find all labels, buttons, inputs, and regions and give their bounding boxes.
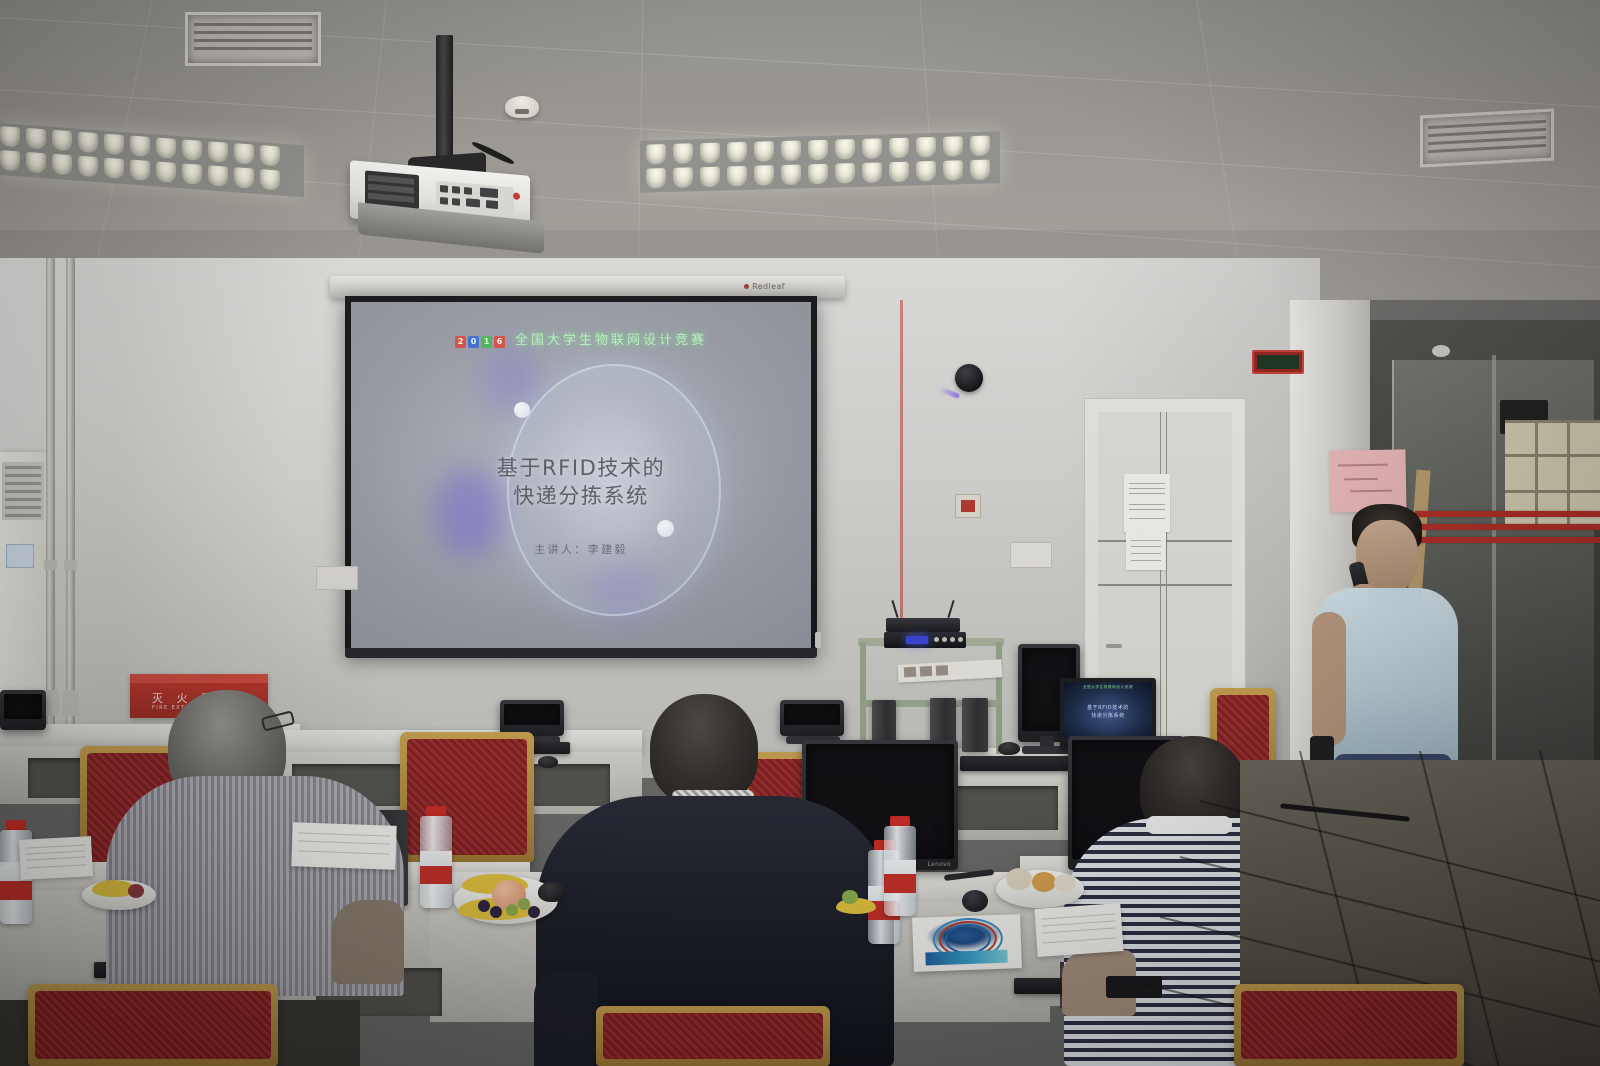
ac-sticker [6,544,34,568]
score-sheet-right [1034,903,1123,957]
chair-foreground-left[interactable] [28,984,278,1066]
wireless-router [886,618,960,632]
grape-black-2 [490,906,502,918]
door-notice-1 [1124,474,1170,532]
slide-presenter-label: 主讲人：李建毅 [351,541,811,557]
wall-pipe-1 [46,258,55,728]
keyboard-teacher-station[interactable] [960,756,1070,771]
pipe-joint-4 [62,690,79,716]
grape-green-1 [506,904,518,916]
ceiling-air-vent-right [1420,108,1554,167]
program-booklet[interactable] [912,914,1022,972]
laptop-screen: 全国大学生物联网设计竞赛 基于RFID技术的 快递分拣系统 [1064,682,1152,740]
door-notice-2 [1126,532,1166,570]
laptop-slide-title: 基于RFID技术的 快递分拣系统 [1064,705,1152,720]
score-sheet-left-1 [19,836,93,880]
presentation-slide: 2016 全国大学生物联网设计竞赛 基于RFID技术的 快递分拣系统 主讲人：李… [351,302,811,648]
pipe-joint-2 [64,560,77,570]
smoke-detector-icon-2 [1432,345,1450,357]
projector-mount-pole [436,35,453,165]
monitor-back-2 [780,700,844,736]
screen-brand-label: Redleaf [752,282,785,291]
judge-left-arm [332,900,404,984]
slide-header: 2016 全国大学生物联网设计竞赛 [351,328,811,348]
booklet-title-bar [925,950,1007,966]
amplifier-display [906,636,928,644]
screen-brand-dot [744,284,749,289]
grape-black-3 [528,906,540,918]
score-sheet-left-2 [291,822,396,870]
smoke-detector-icon [505,96,539,118]
presenter-collar [1368,588,1422,610]
water-bottle-2[interactable] [420,806,452,908]
fruit-left-1 [128,884,144,898]
wall-socket-icon [1010,542,1052,568]
monitor-brand-label-1: Lenovo [928,861,951,868]
laptop-title-line-1: 基于RFID技术的 [1064,705,1152,713]
audio-amplifier[interactable] [884,632,966,648]
year-digit-3: 1 [481,336,492,348]
ceiling-air-vent [185,12,321,66]
wall-pipe-2 [66,258,75,728]
door-handle[interactable] [1106,644,1122,648]
projection-screen-housing: Redleaf [330,276,845,298]
slide-orb-2 [657,520,674,537]
monitor-back-1 [500,700,564,736]
screen-bottom-bar [345,648,817,658]
year-digit-4: 6 [494,336,505,348]
laptop-slide-header: 全国大学生物联网设计竞赛 [1070,685,1146,690]
exit-sign-icon [1252,350,1304,374]
wall-cable-red [900,300,903,630]
pc-tower-3 [962,698,988,752]
chair-foreground-center[interactable] [596,1006,830,1066]
snack-right-1 [1006,868,1032,890]
mouse-teacher-station[interactable] [998,742,1020,755]
table-microphone-icon[interactable] [962,890,988,912]
slide-title: 基于RFID技术的 快递分拣系统 [351,454,811,510]
mouse-back-1[interactable] [538,756,558,768]
air-conditioner-unit [0,452,48,720]
glass-safety-stripe-1 [1415,511,1600,517]
judge-right-collar [1146,816,1232,834]
fire-alarm-call-point-icon [955,494,981,518]
photo-scene: Redleaf 2016 全国大学生物联网设计竞赛 基于RFID技术的 快递分拣… [0,0,1600,1066]
monitor-back-0 [0,690,46,730]
glass-safety-stripe-3 [1415,537,1600,543]
screen-pull-handle[interactable] [815,632,821,648]
presenter-arm-right [1312,612,1346,746]
snack-right-3 [1054,874,1076,892]
judge-center-arm-left [534,970,598,1066]
pipe-joint-1 [44,560,57,570]
slide-title-line-1: 基于RFID技术的 [351,454,811,482]
mouse-judge-center[interactable] [538,882,566,902]
snack-right-2 [1032,872,1056,892]
laptop-title-line-2: 快递分拣系统 [1064,713,1152,721]
projection-screen: 2016 全国大学生物联网设计竞赛 基于RFID技术的 快递分拣系统 主讲人：李… [345,296,817,654]
grape-green-3 [842,890,858,904]
pink-wall-poster [1329,449,1406,512]
wall-panel-left [316,566,358,590]
dome-camera-icon [955,364,983,392]
water-bottle-4[interactable] [884,816,916,916]
year-digit-1: 2 [455,336,466,348]
slide-title-line-2: 快递分拣系统 [351,482,811,510]
year-digit-2: 0 [468,336,479,348]
chair-foreground-right[interactable] [1234,984,1464,1066]
grape-black-1 [478,900,490,912]
ceiling-light-fixture-center [640,131,1000,192]
slide-year-logo: 2016 [455,329,507,348]
glass-safety-stripe-2 [1415,524,1600,530]
slide-header-title: 全国大学生物联网设计竞赛 [515,329,707,348]
